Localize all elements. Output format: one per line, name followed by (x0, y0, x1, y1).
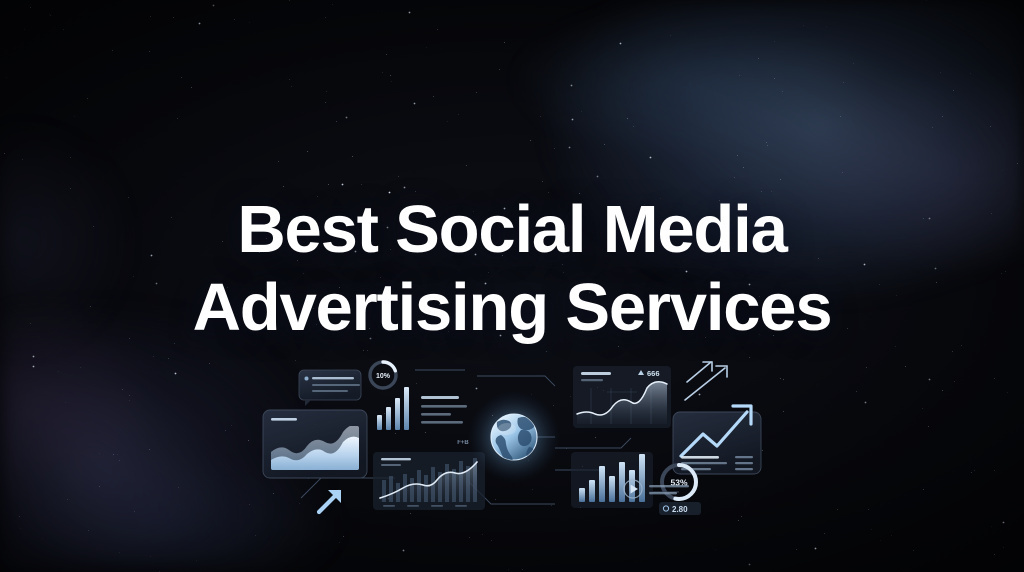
page-title: Best Social Media Advertising Services (0, 191, 1024, 347)
hero-banner: Best Social Media Advertising Services (0, 0, 1024, 572)
gauge-left-value: 10% (376, 373, 391, 380)
play-caption-lines (649, 485, 689, 494)
bar-chart-panel (571, 452, 653, 508)
trend-up-stat-value: 666 (647, 369, 660, 378)
star-field-bright (0, 0, 1, 1)
area-chart-panel: 666 (573, 366, 671, 428)
combo-chart-card: F+B (373, 440, 485, 510)
page-title-line-2: Advertising Services (0, 269, 1024, 347)
message-card (299, 370, 361, 406)
globe-icon (468, 391, 560, 483)
completion-gauge-left: 10% (370, 362, 396, 388)
bar-chart-group (377, 387, 409, 430)
trend-arrows (685, 362, 727, 400)
area-chart-card (263, 410, 367, 478)
chart-corner-stat: F+B (457, 440, 469, 446)
page-title-line-1: Best Social Media (0, 191, 1024, 269)
timer-stat-value: 2.80 (672, 505, 688, 514)
timer-stat: 2.80 (659, 502, 701, 515)
text-lines-group (421, 396, 467, 424)
arrow-up-right-accent (319, 490, 341, 512)
analytics-illustration: 10% F+B (255, 352, 769, 522)
growth-arrow-card (673, 406, 761, 474)
